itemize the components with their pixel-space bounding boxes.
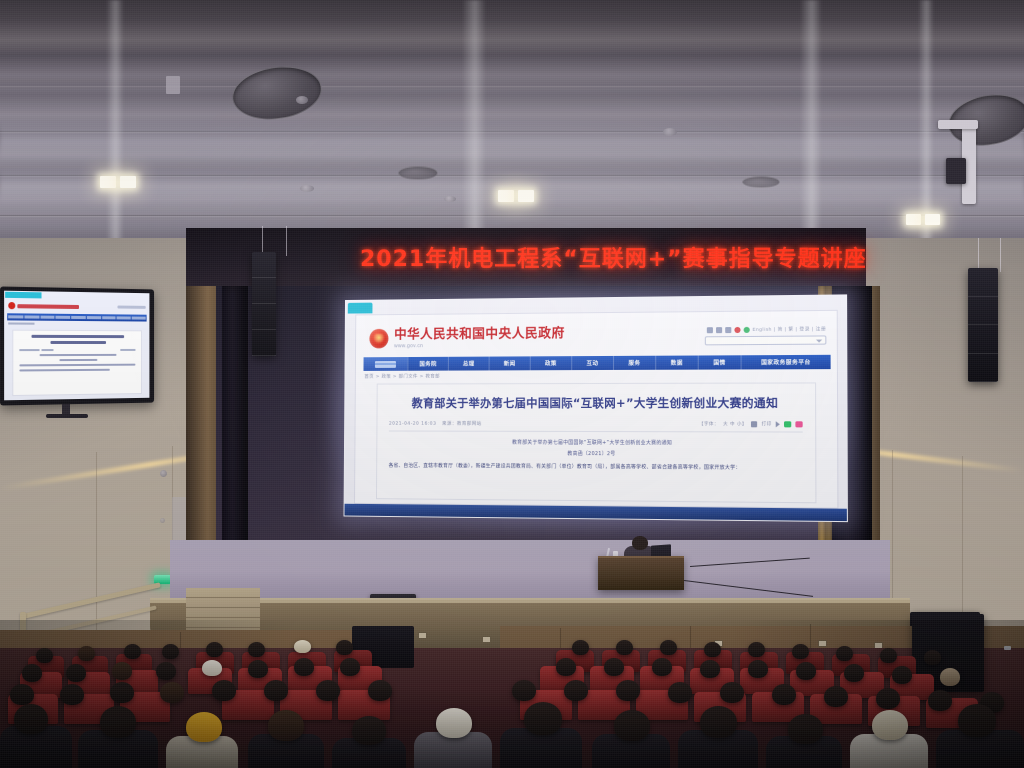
projector-mount-head [946, 158, 966, 184]
app-icon[interactable] [725, 327, 731, 333]
article-source-label: 来源： [442, 421, 457, 426]
auditorium-photo: 2021年机电工程系“互联网+”赛事指导专题讲座 中华人民共和国中央人民政府 w… [0, 0, 1024, 768]
speaker-rigging-wire [1000, 238, 1001, 272]
article-body-text: 各省、自治区、直辖市教育厅（教委），新疆生产建设兵团教育局、有关部门（单位）教育… [389, 462, 803, 474]
monitor-header-tools [117, 306, 145, 309]
print-label[interactable]: 打印 [761, 421, 771, 427]
mobile-icon[interactable] [706, 327, 712, 333]
smoke-detector-icon [444, 196, 456, 202]
podium-table [598, 556, 684, 590]
article-date: 2021-04-20 16:03 [389, 421, 437, 426]
line-array-speaker-left [252, 252, 276, 356]
gov-header-tools: English | 简 | 繁 | 登录 | 注册 [705, 326, 827, 345]
gov-site-title: 中华人民共和国中央人民政府 [394, 327, 565, 341]
nav-item-guoqing[interactable]: 国情 [698, 355, 741, 369]
projector-mount-arm [938, 120, 978, 129]
nav-item-guowuyuan[interactable]: 国务院 [407, 357, 447, 371]
ceiling-vent-icon [742, 176, 780, 188]
accessibility-icon[interactable] [716, 327, 722, 333]
light-shaft [918, 0, 934, 250]
ceiling-fixture [166, 76, 180, 94]
browser-tab[interactable] [348, 303, 373, 314]
monitor-site-title [17, 304, 79, 309]
light-shaft [800, 0, 822, 250]
ceiling-light [906, 214, 921, 225]
monitor-breadcrumb [8, 322, 34, 324]
speaker-rigging-wire [286, 226, 287, 256]
nav-item-fuwu[interactable]: 服务 [613, 356, 655, 370]
nav-item-shuju[interactable]: 数据 [655, 355, 698, 369]
fontsize-options[interactable]: 大 中 小】 [723, 421, 747, 427]
smoke-detector-icon [663, 128, 677, 136]
stage-stairs [186, 588, 260, 634]
gov-site-header: 中华人民共和国中央人民政府 www.gov.cn English | 简 | 繁… [369, 319, 826, 354]
event-banner: 2021年机电工程系“互联网+”赛事指导专题讲座 [360, 240, 880, 274]
nav-item-hudong[interactable]: 互动 [571, 356, 613, 370]
smoke-detector-icon [296, 96, 308, 104]
ceiling-vent-icon [398, 166, 438, 180]
fontsize-label: 【字体： [699, 421, 719, 427]
wall-panel-seam [96, 452, 97, 636]
article-title: 教育部关于举办第七届中国国际“互联网+”大学生创新创业大赛的通知 [389, 395, 803, 412]
article-tools: 【字体： 大 中 小】 打印 [699, 421, 803, 427]
speaker-rigging-wire [978, 238, 979, 272]
presenter-head [632, 536, 648, 550]
monitor-base [46, 414, 88, 418]
national-emblem-icon [369, 329, 388, 349]
line-array-speaker-right [968, 268, 998, 382]
light-shaft [462, 0, 486, 250]
share-icon[interactable] [776, 421, 780, 427]
stage-outlet [482, 636, 491, 643]
article-body-title: 教育部关于举办第七届中国国际“互联网+”大学生创新创业大赛的通知 [389, 438, 803, 446]
gov-site-url: www.gov.cn [394, 342, 565, 349]
print-icon[interactable] [751, 421, 757, 427]
article-doc-number: 教高函〔2021〕2号 [389, 449, 803, 458]
nav-item-zhengwu-platform[interactable]: 国家政务服务平台 [740, 355, 830, 370]
monitor-site-header [8, 300, 146, 313]
aisle-light [1004, 646, 1011, 650]
nav-item-zhengce[interactable]: 政策 [530, 356, 571, 370]
wall-outlet [818, 640, 827, 647]
gov-webpage: 中华人民共和国中央人民政府 www.gov.cn English | 简 | 繁… [354, 310, 838, 509]
projection-screen: 中华人民共和国中央人民政府 www.gov.cn English | 简 | 繁… [344, 294, 848, 522]
gov-nav-logo-icon[interactable] [363, 357, 407, 371]
nav-item-xinwen[interactable]: 新闻 [489, 356, 530, 370]
article-date-source: 2021-04-20 16:03 来源：教育部网站 [389, 420, 482, 426]
breadcrumb[interactable]: 首页 > 政策 > 部门文件 > 教育部 [364, 374, 440, 380]
ceiling-light [498, 190, 514, 202]
wall-panel-seam [962, 456, 963, 636]
wall-mounted-display [0, 286, 154, 405]
article-source[interactable]: 教育部网站 [457, 421, 482, 426]
wechat-icon[interactable] [743, 327, 749, 333]
wall-speaker-icon [160, 470, 167, 477]
stage-outlet [418, 632, 427, 639]
gov-navbar: 国务院 总理 新闻 政策 互动 服务 数据 国情 国家政务服务平台 [363, 355, 830, 371]
weibo-share-icon[interactable] [795, 421, 802, 427]
nav-item-zongli[interactable]: 总理 [448, 357, 489, 371]
gov-search-input[interactable] [705, 335, 827, 345]
stage-curtain-dark [222, 286, 248, 558]
wechat-share-icon[interactable] [784, 421, 791, 427]
light-shaft [106, 0, 124, 250]
gov-header-links[interactable]: English | 简 | 繁 | 登录 | 注册 [752, 326, 826, 333]
article-container: 教育部关于举办第七届中国国际“互联网+”大学生创新创业大赛的通知 2021-04… [376, 382, 816, 503]
article-meta: 2021-04-20 16:03 来源：教育部网站 【字体： 大 中 小】 打印 [389, 420, 803, 432]
smoke-detector-icon [300, 185, 314, 192]
monitor-emblem-icon [8, 302, 15, 309]
monitor-screen [4, 291, 149, 401]
ceiling-haze [0, 120, 1024, 162]
monitor-navbar [7, 313, 146, 321]
ceiling-light [100, 176, 116, 188]
monitor-article [12, 330, 142, 396]
wall-switch-icon [160, 518, 165, 523]
weibo-icon[interactable] [734, 327, 740, 333]
monitor-browser-tab [5, 292, 41, 299]
